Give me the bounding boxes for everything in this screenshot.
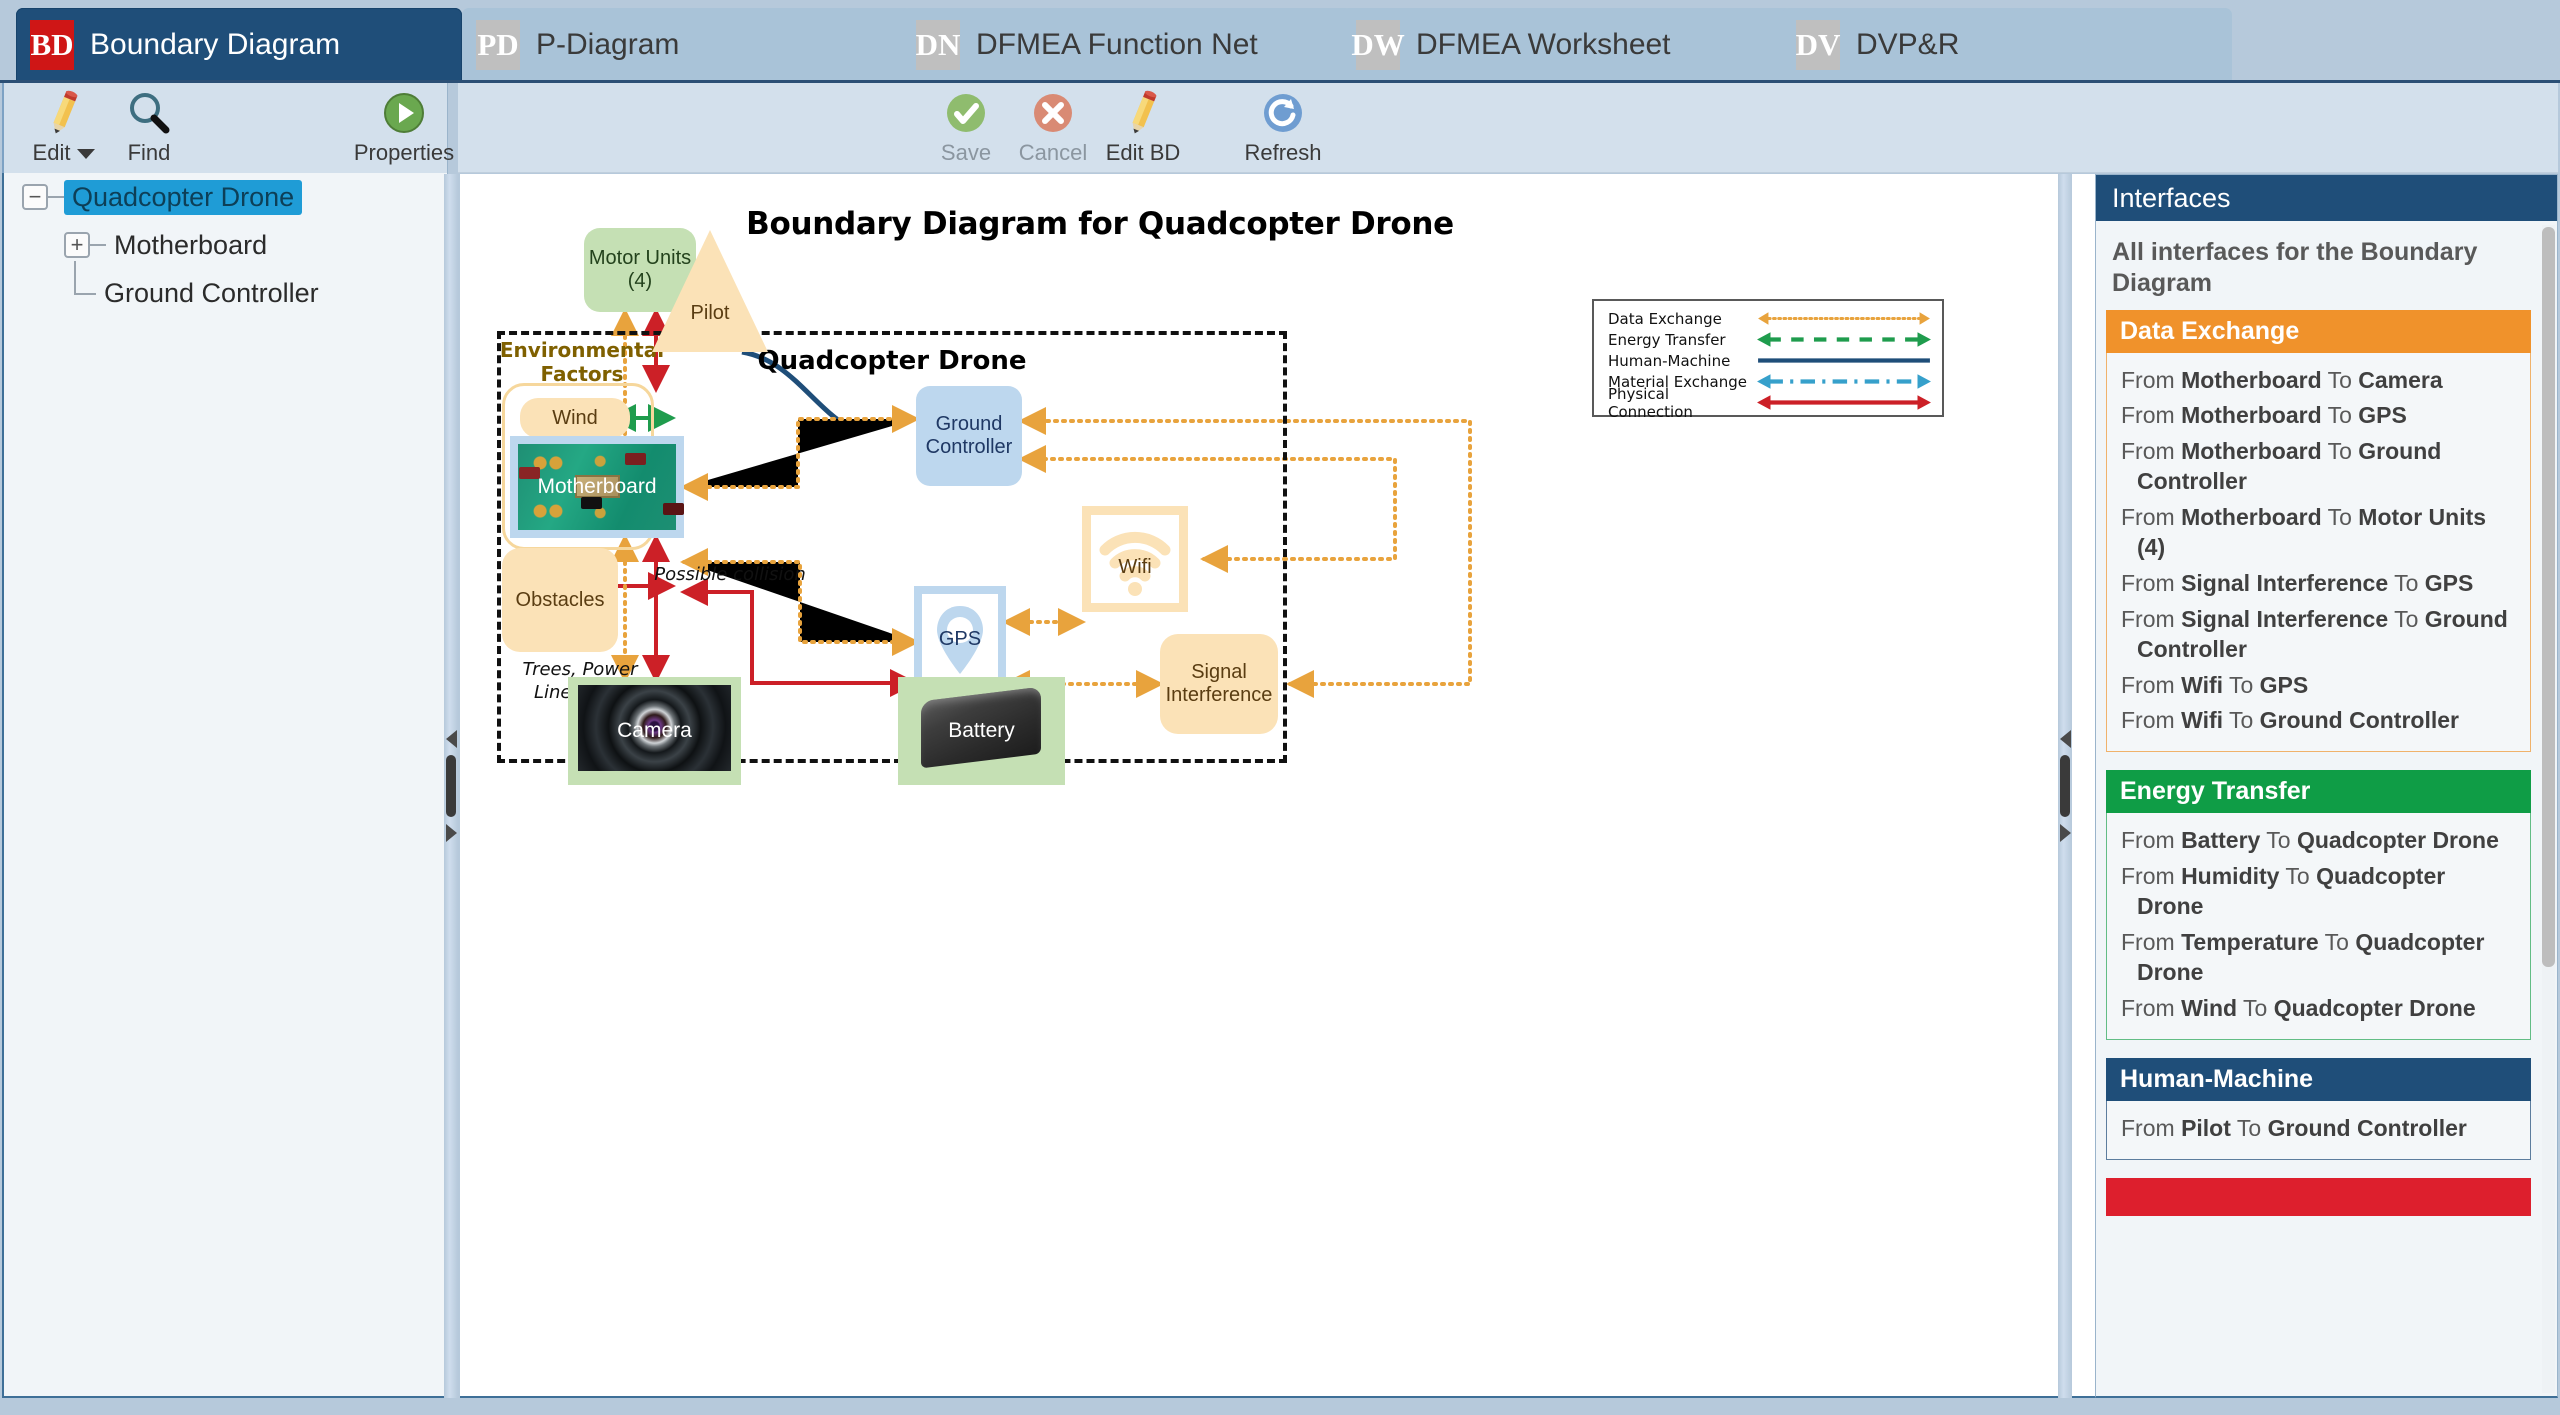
interface-group-energy-transfer: Energy Transfer From Battery To Quadcopt…: [2106, 770, 2531, 1039]
tab-badge-dv: DV: [1796, 20, 1840, 70]
legend-box: Data Exchange Energy Transfer Human-Mach…: [1592, 299, 1944, 417]
interface-item[interactable]: From Signal Interference To GPS: [2137, 566, 2516, 602]
expand-left-icon: [446, 824, 457, 842]
interface-item[interactable]: From Temperature To Quadcopter Drone: [2137, 925, 2516, 991]
refresh-button[interactable]: Refresh: [1223, 87, 1343, 166]
pencil-icon: [1122, 87, 1164, 139]
interface-group-data-exchange: Data Exchange From Motherboard To Camera…: [2106, 310, 2531, 753]
interface-group-title: Energy Transfer: [2106, 770, 2531, 813]
node-label: Camera: [617, 719, 692, 743]
legend-label: Human-Machine: [1608, 352, 1756, 370]
possible-collision-label: Possible collision: [630, 564, 830, 585]
collapse-left-icon: [446, 730, 457, 748]
scrollbar-thumb[interactable]: [2542, 227, 2555, 967]
component-tree-panel: − Quadcopter Drone + Motherboard Ground …: [2, 173, 448, 1398]
interface-item[interactable]: From Motherboard To GPS: [2137, 398, 2516, 434]
interface-item[interactable]: From Wind To Quadcopter Drone: [2137, 991, 2516, 1027]
tree-item-motherboard[interactable]: + Motherboard: [4, 221, 447, 269]
tab-label-dw: DFMEA Worksheet: [1416, 28, 1671, 62]
find-label: Find: [128, 140, 171, 166]
search-icon: [126, 87, 172, 139]
interface-item[interactable]: From Wifi To Ground Controller: [2137, 703, 2516, 739]
refresh-label: Refresh: [1244, 140, 1321, 166]
legend-row-physical-connection: Physical Connection: [1608, 392, 1932, 413]
tab-label-dv: DVP&R: [1856, 28, 1959, 62]
interface-group-title: Human-Machine: [2106, 1058, 2531, 1101]
interface-item[interactable]: From Motherboard To Motor Units (4): [2137, 500, 2516, 566]
edit-bd-label: Edit BD: [1106, 140, 1181, 166]
tree-elbow: [66, 269, 96, 317]
node-wifi[interactable]: Wifi: [1082, 506, 1188, 612]
node-battery[interactable]: Battery: [898, 677, 1065, 785]
legend-line-solid-red: [1756, 392, 1932, 413]
legend-label: Physical Connection: [1608, 385, 1756, 421]
tree-expand-toggle[interactable]: +: [64, 232, 90, 258]
tab-dvpr[interactable]: DV DVP&R: [1782, 8, 2232, 82]
tab-label-pd: P-Diagram: [536, 28, 679, 62]
tab-bar: BD Boundary Diagram PD P-Diagram DN DFME…: [0, 0, 2560, 82]
interfaces-panel: Interfaces All interfaces for the Bounda…: [2095, 174, 2558, 1398]
node-label: GPS: [914, 628, 1006, 651]
legend-line-dashdot-cyan: [1756, 371, 1932, 392]
interface-group-physical-connection: [2106, 1178, 2531, 1216]
splitter-grip[interactable]: [2060, 755, 2070, 817]
main-toolbar: Save Cancel Edit BD: [458, 83, 2558, 173]
tab-badge-dn: DN: [916, 20, 960, 70]
node-obstacles[interactable]: Obstacles: [502, 548, 618, 652]
interface-item[interactable]: From Motherboard To Camera: [2137, 363, 2516, 399]
tree-item-ground-controller[interactable]: Ground Controller: [4, 269, 447, 317]
node-gps[interactable]: GPS: [914, 586, 1006, 690]
interface-group-human-machine: Human-Machine From Pilot To Ground Contr…: [2106, 1058, 2531, 1160]
interface-group-items: From Battery To Quadcopter Drone From Hu…: [2106, 813, 2531, 1039]
tab-boundary-diagram[interactable]: BD Boundary Diagram: [16, 8, 462, 82]
interface-item[interactable]: From Motherboard To Ground Controller: [2137, 434, 2516, 500]
interface-item[interactable]: From Signal Interference To Ground Contr…: [2137, 602, 2516, 668]
tree-connector: [48, 196, 64, 198]
legend-row-data-exchange: Data Exchange: [1608, 308, 1932, 329]
edit-label: Edit: [33, 140, 96, 166]
node-label: Wifi: [1082, 556, 1188, 579]
legend-line-dashed-green: [1756, 329, 1932, 350]
properties-label: Properties: [354, 140, 454, 166]
interface-group-items: From Pilot To Ground Controller: [2106, 1101, 2531, 1160]
interface-item[interactable]: From Wifi To GPS: [2137, 668, 2516, 704]
tab-badge-pd: PD: [476, 20, 520, 70]
node-camera[interactable]: Camera: [568, 677, 741, 785]
legend-line-dotted-orange: [1756, 308, 1932, 329]
legend-row-energy-transfer: Energy Transfer: [1608, 329, 1932, 350]
tab-label-bd: Boundary Diagram: [90, 28, 340, 62]
window-bottom-strip: [0, 1398, 2560, 1415]
node-label: SignalInterference: [1166, 661, 1273, 707]
node-label: Obstacles: [516, 589, 605, 612]
diagram-content: Boundary Diagram for Quadcopter Drone: [460, 174, 2092, 1398]
node-pilot[interactable]: Pilot: [652, 230, 768, 352]
find-button[interactable]: Find: [89, 87, 209, 166]
node-label: GroundController: [926, 413, 1013, 459]
left-toolbar: Edit Find Properties: [2, 83, 448, 173]
tree-item-label: Ground Controller: [96, 276, 327, 311]
left-splitter[interactable]: [444, 174, 458, 1398]
expand-right-icon: [2060, 824, 2071, 842]
interfaces-panel-body: All interfaces for the Boundary Diagram …: [2096, 221, 2541, 1396]
tree-item-label: Motherboard: [106, 228, 275, 263]
interface-item[interactable]: From Humidity To Quadcopter Drone: [2137, 859, 2516, 925]
tab-p-diagram[interactable]: PD P-Diagram: [462, 8, 912, 82]
interfaces-panel-header: Interfaces: [2096, 175, 2557, 221]
interface-group-title: Data Exchange: [2106, 310, 2531, 353]
tab-label-dn: DFMEA Function Net: [976, 28, 1258, 62]
tree-connector: [90, 244, 106, 246]
node-label: Wind: [552, 407, 598, 430]
legend-row-human-machine: Human-Machine: [1608, 350, 1932, 371]
save-check-icon: [943, 87, 989, 139]
interface-item[interactable]: From Battery To Quadcopter Drone: [2137, 823, 2516, 859]
node-ground-controller[interactable]: GroundController: [916, 386, 1022, 486]
node-label: Pilot: [652, 302, 768, 325]
save-label: Save: [941, 140, 991, 166]
collapse-right-icon: [2060, 730, 2071, 748]
legend-label: Energy Transfer: [1608, 331, 1756, 349]
pencil-icon: [43, 87, 85, 139]
interfaces-subtitle: All interfaces for the Boundary Diagram: [2106, 221, 2531, 310]
cancel-label: Cancel: [1019, 140, 1087, 166]
interface-item[interactable]: From Pilot To Ground Controller: [2137, 1111, 2516, 1147]
legend-line-solid-navy: [1756, 350, 1932, 371]
tree-item-quadcopter-drone[interactable]: − Quadcopter Drone: [4, 173, 447, 221]
legend-label: Data Exchange: [1608, 310, 1756, 328]
interface-group-title: [2106, 1178, 2531, 1216]
properties-icon: [381, 87, 427, 139]
node-label: Motherboard: [537, 475, 656, 499]
right-splitter[interactable]: [2058, 174, 2072, 1398]
interfaces-scrollbar[interactable]: [2542, 225, 2555, 1393]
tab-dfmea-worksheet[interactable]: DW DFMEA Worksheet: [1342, 8, 1792, 82]
refresh-icon: [1260, 87, 1306, 139]
node-signal-interference[interactable]: SignalInterference: [1160, 634, 1278, 734]
interface-group-items: From Motherboard To Camera From Motherbo…: [2106, 353, 2531, 753]
splitter-grip[interactable]: [446, 755, 456, 817]
tree-collapse-toggle[interactable]: −: [22, 184, 48, 210]
edit-bd-button[interactable]: Edit BD: [1083, 87, 1203, 166]
node-label: Battery: [948, 719, 1015, 743]
tab-dfmea-function-net[interactable]: DN DFMEA Function Net: [902, 8, 1352, 82]
tab-badge-dw: DW: [1356, 20, 1400, 70]
tree-item-label: Quadcopter Drone: [64, 180, 302, 215]
node-wind[interactable]: Wind: [520, 398, 630, 438]
tab-badge-bd: BD: [30, 20, 74, 70]
node-motherboard[interactable]: Motherboard: [510, 436, 684, 538]
cancel-close-icon: [1030, 87, 1076, 139]
